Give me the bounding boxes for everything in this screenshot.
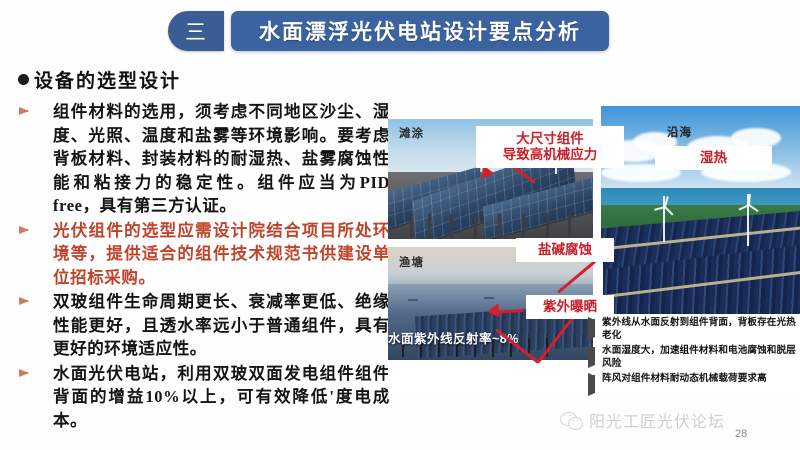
arrow-bullet-icon — [18, 362, 53, 377]
list-item: 光伏组件的选型应需设计院结合项目所处环境等，提供适合的组件技术规范书供建设单位招… — [18, 219, 390, 290]
list-item: 双玻组件生命周期更长、衰减率更低、绝缘性能更好，且透水率远小于普通组件，具有更好… — [18, 290, 390, 361]
left-text-column: 设备的选型设计 组件材料的选用，须考虑不同地区沙尘、湿度、光照、温度和盐雾等环境… — [18, 66, 390, 433]
watermark: 阳光工匠光伏论坛 — [560, 406, 790, 434]
notes-list: 紫外线从水面反射到组件背面，背板存在光热老化 水面湿度大，加速组件材料和电池腐蚀… — [588, 316, 796, 395]
section-number-badge: 三 — [168, 11, 224, 51]
collage-gap — [388, 360, 601, 392]
note-item-text: 水面湿度大，加速组件材料和电池腐蚀和脱层风险 — [602, 344, 796, 371]
note-item: 水面湿度大，加速组件材料和电池腐蚀和脱层风险 — [588, 344, 796, 371]
section-heading-text: 设备的选型设计 — [34, 66, 181, 93]
slide-header: 三 水面漂浮光伏电站设计要点分析 — [168, 11, 609, 51]
watermark-text: 阳光工匠光伏论坛 — [589, 408, 725, 432]
photo-coastal — [601, 106, 800, 316]
note-arrow-icon — [588, 372, 602, 394]
note-item: 紫外线从水面反射到组件背面，背板存在光热老化 — [588, 316, 796, 343]
callout-humid-heat: 湿热 — [655, 146, 772, 170]
list-item: 组件材料的选用，须考虑不同地区沙尘、湿度、光照、温度和盐雾等环境影响。要考虑背板… — [18, 100, 390, 218]
wechat-icon — [560, 412, 582, 429]
page-title: 水面漂浮光伏电站设计要点分析 — [259, 16, 581, 46]
collage-gap — [388, 106, 601, 119]
slide-title-bar: 水面漂浮光伏电站设计要点分析 — [231, 11, 609, 51]
bullet-dot-icon — [18, 74, 29, 85]
arrow-head-uv-left — [486, 303, 499, 318]
note-arrow-icon — [588, 344, 602, 366]
section-number-text: 三 — [185, 16, 207, 46]
photo-label-tidal-flat: 滩涂 — [399, 125, 424, 141]
photo-label-coastal: 沿海 — [667, 124, 692, 140]
page-number: 28 — [735, 428, 747, 440]
arrow-bullet-icon — [18, 219, 53, 234]
callout-humid-heat-text: 湿热 — [700, 150, 727, 166]
list-item-text: 水面光伏电站，利用双玻双面发电组件组件背面的增益10%以上，可有效降低'度电成本… — [53, 362, 390, 433]
list-item: 水面光伏电站，利用双玻双面发电组件组件背面的增益10%以上，可有效降低'度电成本… — [18, 362, 390, 433]
callout-salt-alkali-corrosion-text: 盐碱腐蚀 — [538, 242, 592, 258]
callout-big-size-module-text: 大尺寸组件导致高机械应力 — [503, 131, 598, 164]
callout-uv-exposure-text: 紫外曝晒 — [543, 299, 597, 315]
note-arrow-icon — [588, 316, 602, 338]
arrow-bullet-icon — [18, 290, 53, 305]
arrow-bullet-icon — [18, 100, 53, 115]
note-item-text: 阵风对组件材料耐动态机械载荷要求高 — [602, 372, 767, 385]
note-item: 阵风对组件材料耐动态机械载荷要求高 — [588, 372, 796, 394]
section-heading: 设备的选型设计 — [18, 66, 390, 93]
callout-salt-alkali-corrosion: 盐碱腐蚀 — [516, 238, 614, 262]
note-item-text: 紫外线从水面反射到组件背面，背板存在光热老化 — [602, 316, 796, 343]
photo-label-fish-pond: 渔塘 — [399, 254, 424, 270]
slide-canvas: 三 水面漂浮光伏电站设计要点分析 设备的选型设计 组件材料的选用，须考虑不同地区… — [0, 0, 800, 450]
list-item-text: 双玻组件生命周期更长、衰减率更低、绝缘性能更好，且透水率远小于普通组件，具有更好… — [53, 290, 390, 361]
callout-big-size-module: 大尺寸组件导致高机械应力 — [476, 126, 624, 168]
list-item-text-highlighted: 光伏组件的选型应需设计院结合项目所处环境等，提供适合的组件技术规范书供建设单位招… — [53, 219, 390, 290]
list-item-text: 组件材料的选用，须考虑不同地区沙尘、湿度、光照、温度和盐雾等环境影响。要考虑背板… — [53, 100, 390, 218]
